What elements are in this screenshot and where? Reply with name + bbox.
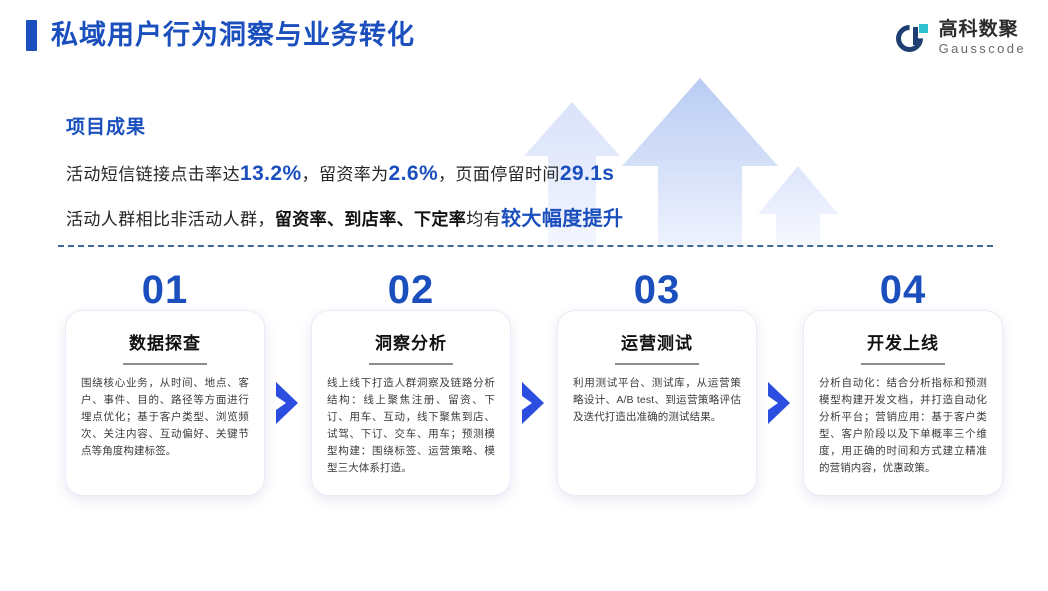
results-line1-seg3: ，页面停留时间 bbox=[438, 165, 560, 184]
logo-name-cn: 高科数聚 bbox=[939, 20, 1026, 39]
slide-header: 私域用户行为洞察与业务转化 高科数聚 Gausscode bbox=[0, 0, 1048, 78]
step-title-02: 洞察分析 bbox=[327, 329, 495, 354]
logo-stem-shape bbox=[913, 27, 918, 45]
step-rule-02 bbox=[369, 363, 453, 365]
results-line-1: 活动短信链接点击率达13.2%，留资率为2.6%，页面停留时间29.1s bbox=[66, 160, 826, 188]
step-card-01[interactable]: 数据探查 围绕核心业务，从时间、地点、客户、事件、目的、路径等方面进行埋点优化；… bbox=[65, 310, 265, 496]
results-line1-seg2: ，留资率为 bbox=[302, 165, 389, 184]
logo-square-icon bbox=[919, 24, 928, 33]
step-rule-04 bbox=[861, 363, 945, 365]
step-number-01: 01 bbox=[65, 270, 265, 310]
brand-logo: 高科数聚 Gausscode bbox=[896, 20, 1026, 55]
title-text: 私域用户行为洞察与业务转化 bbox=[51, 22, 415, 49]
results-heading: 项目成果 bbox=[66, 112, 826, 139]
step-number-03: 03 bbox=[557, 270, 757, 310]
chevron-right-icon-1 bbox=[274, 380, 300, 426]
section-divider bbox=[58, 245, 993, 247]
step-title-04: 开发上线 bbox=[819, 329, 987, 354]
step-number-02: 02 bbox=[311, 270, 511, 310]
step-body-01: 围绕核心业务，从时间、地点、客户、事件、目的、路径等方面进行埋点优化；基于客户类… bbox=[81, 375, 249, 460]
step-title-03: 运营测试 bbox=[573, 329, 741, 354]
results-block: 项目成果 活动短信链接点击率达13.2%，留资率为2.6%，页面停留时间29.1… bbox=[66, 112, 826, 251]
logo-name-en: Gausscode bbox=[939, 42, 1026, 55]
step-rule-01 bbox=[123, 363, 207, 365]
process-steps: 01 数据探查 围绕核心业务，从时间、地点、客户、事件、目的、路径等方面进行埋点… bbox=[0, 272, 1048, 512]
results-line2-metrics: 留资率、到店率、下定率 bbox=[275, 210, 466, 229]
slide-root: 私域用户行为洞察与业务转化 高科数聚 Gausscode bbox=[0, 0, 1048, 591]
title-accent-bar bbox=[26, 20, 37, 51]
results-line2-seg1: 活动人群相比非活动人群， bbox=[66, 210, 275, 229]
step-body-03: 利用测试平台、测试库，从运营策略设计、A/B test、到运营策略评估及迭代打造… bbox=[573, 375, 741, 426]
step-number-04: 04 bbox=[803, 270, 1003, 310]
results-line2-highlight: 较大幅度提升 bbox=[501, 208, 623, 230]
results-line2-seg2: 均有 bbox=[466, 210, 501, 229]
chevron-right-icon-3 bbox=[766, 380, 792, 426]
results-line1-seg1: 活动短信链接点击率达 bbox=[66, 165, 240, 184]
step-card-03[interactable]: 运营测试 利用测试平台、测试库，从运营策略设计、A/B test、到运营策略评估… bbox=[557, 310, 757, 496]
step-body-02: 线上线下打造人群洞察及链路分析结构：线上聚焦注册、留资、下订、用车、互动，线下聚… bbox=[327, 375, 495, 477]
step-body-04: 分析自动化：结合分析指标和预测模型构建开发文档，并打造自动化分析平台；营销应用：… bbox=[819, 375, 987, 477]
step-rule-03 bbox=[615, 363, 699, 365]
step-card-02[interactable]: 洞察分析 线上线下打造人群洞察及链路分析结构：线上聚焦注册、留资、下订、用车、互… bbox=[311, 310, 511, 496]
logo-wordmark: 高科数聚 Gausscode bbox=[939, 20, 1026, 55]
logo-g-icon bbox=[896, 21, 930, 55]
page-title: 私域用户行为洞察与业务转化 bbox=[26, 20, 415, 51]
metric-lead-rate: 2.6% bbox=[389, 162, 438, 185]
step-card-04[interactable]: 开发上线 分析自动化：结合分析指标和预测模型构建开发文档，并打造自动化分析平台；… bbox=[803, 310, 1003, 496]
metric-dwell-time: 29.1s bbox=[560, 162, 615, 185]
metric-click-rate: 13.2% bbox=[240, 162, 302, 185]
chevron-right-icon-2 bbox=[520, 380, 546, 426]
results-line-2: 活动人群相比非活动人群，留资率、到店率、下定率均有较大幅度提升 bbox=[66, 206, 826, 233]
step-title-01: 数据探查 bbox=[81, 329, 249, 354]
